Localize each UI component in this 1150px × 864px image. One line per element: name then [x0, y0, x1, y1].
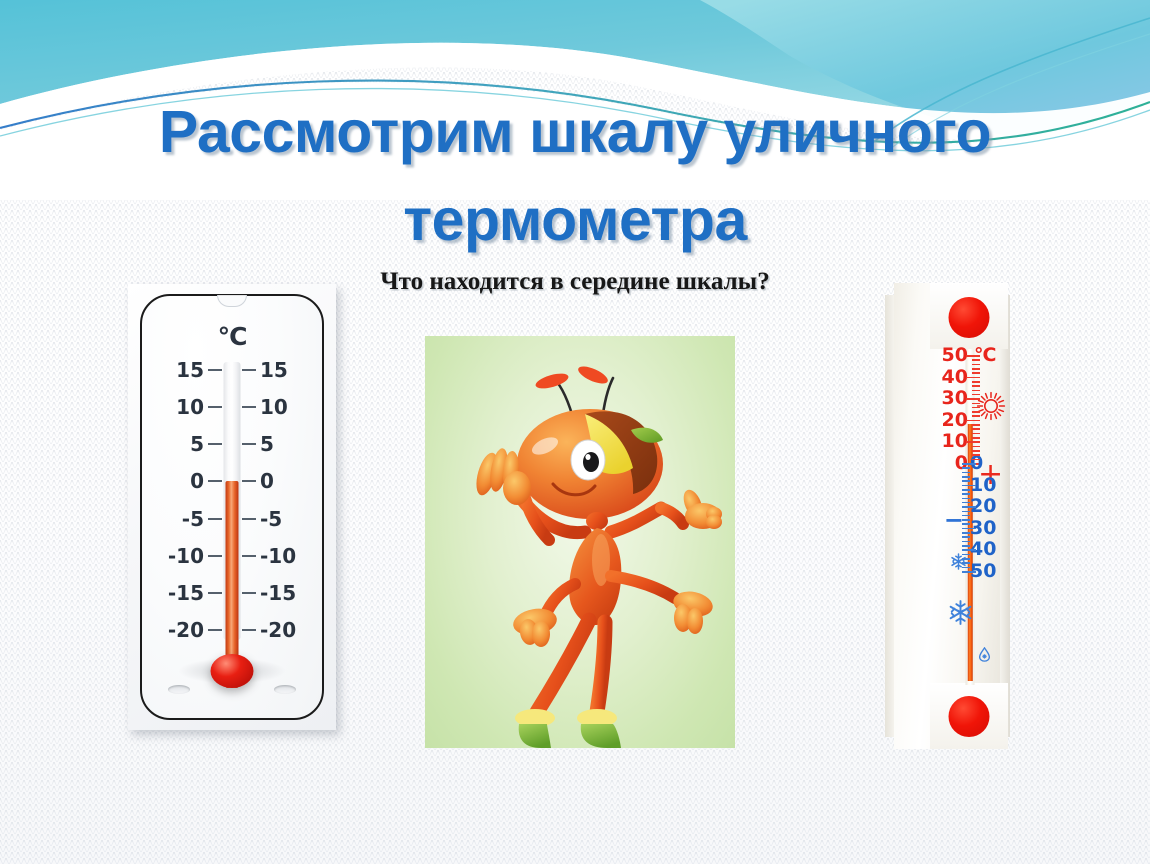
thermometer-left-plate: °C 151510105500-5-5-10-10-15-15-20-20	[128, 284, 336, 730]
scale-tick-left--5	[208, 518, 222, 520]
scale-tick-positive-20	[966, 420, 980, 422]
scale-minor-negative-42	[962, 554, 970, 556]
scale-minor-positive-48	[972, 359, 980, 361]
scale-tick-left-0	[208, 480, 222, 482]
scale-minor-positive-28	[972, 403, 980, 405]
scale-label-positive-20: 20	[942, 411, 968, 430]
scale-minor-negative-2	[962, 467, 970, 469]
scale-label-right-15: 15	[260, 358, 288, 382]
scale-minor-negative-28	[962, 523, 970, 525]
mount-hole-right	[274, 685, 296, 694]
scale-minor-positive-4	[972, 454, 980, 456]
scale-label-left--20: -20	[168, 618, 204, 642]
thermometer-right-face: °C	[924, 347, 1016, 687]
mount-hole-left	[168, 685, 190, 694]
scale-tick-left-5	[208, 443, 222, 445]
unit-label-celsius: °C	[142, 322, 322, 351]
scale-label-left--10: -10	[168, 544, 204, 568]
thermometer-left-body: °C 151510105500-5-5-10-10-15-15-20-20	[140, 294, 324, 720]
scale-minor-positive-42	[972, 372, 980, 374]
scale-minor-positive-46	[972, 364, 980, 366]
scale-minor-positive-32	[972, 394, 980, 396]
scale-tick-right--15	[242, 592, 256, 594]
scale-tick-left--10	[208, 555, 222, 557]
scale-minor-negative-22	[962, 511, 970, 513]
scale-label-left-0: 0	[190, 469, 204, 493]
scale-minor-negative-26	[962, 519, 970, 521]
scale-tick-positive-10	[966, 441, 980, 443]
suction-cup-top-icon	[949, 297, 990, 338]
hanger-notch	[217, 295, 247, 307]
scale-label-right--5: -5	[260, 507, 282, 531]
scale-minor-negative-32	[962, 532, 970, 534]
scale-tick-left-15	[208, 369, 222, 371]
scale-minor-negative-36	[962, 541, 970, 543]
scale-tick-right--10	[242, 555, 256, 557]
scale-minor-positive-12	[972, 437, 980, 439]
scale-minor-positive-44	[972, 368, 980, 370]
header-decoration	[0, 0, 1150, 200]
scale-label-positive-30: 30	[942, 389, 968, 408]
ant-character-image	[425, 336, 735, 748]
scale-tick-right-10	[242, 406, 256, 408]
scale-tick-positive-30	[966, 398, 980, 400]
scale-minor-positive-14	[972, 433, 980, 435]
scale-minor-negative-16	[962, 498, 970, 500]
scale-minor-positive-34	[972, 390, 980, 392]
scale-tick-positive-50	[966, 355, 980, 357]
sun-icon	[976, 391, 1006, 424]
scale-label-positive-40: 40	[942, 368, 968, 387]
scale-tick-right-15	[242, 369, 256, 371]
scale-minor-negative-12	[962, 489, 970, 491]
scale-minor-negative-44	[962, 558, 970, 560]
scale-minor-negative-18	[962, 502, 970, 504]
scale-minor-negative-46	[962, 562, 970, 564]
scale-minor-negative-14	[962, 493, 970, 495]
scale-label-left--5: -5	[182, 507, 204, 531]
scale-label-left-15: 15	[176, 358, 204, 382]
scale-minor-negative-38	[962, 545, 970, 547]
scale-label-positive-10: 10	[942, 432, 968, 451]
scale-label-right--20: -20	[260, 618, 296, 642]
scale-label-left--15: -15	[168, 581, 204, 605]
scale-minor-positive-24	[972, 411, 980, 413]
scale-minor-negative-48	[962, 567, 970, 569]
scale-label-left-10: 10	[176, 395, 204, 419]
scale-minor-negative-8	[962, 480, 970, 482]
thermometer-left: °C 151510105500-5-5-10-10-15-15-20-20	[128, 284, 336, 730]
scale-minor-positive-16	[972, 428, 980, 430]
scale-tick-negative-50	[962, 571, 976, 573]
scale-minor-positive-2	[972, 459, 980, 461]
top-cap	[930, 283, 1008, 349]
scale-tick-negative-10	[962, 485, 976, 487]
scale-tick-negative-0	[962, 463, 976, 465]
scale-label-right-0: 0	[260, 469, 274, 493]
scale-tick-left--20	[208, 629, 222, 631]
scale-label-right-10: 10	[260, 395, 288, 419]
scale-minor-positive-22	[972, 415, 980, 417]
scale-tick-right-5	[242, 443, 256, 445]
snowflake-large-icon	[947, 599, 974, 629]
droplet-icon	[978, 647, 991, 665]
scale-minor-positive-8	[972, 446, 980, 448]
scale-tick-left-10	[208, 406, 222, 408]
scale-tick-right--20	[242, 629, 256, 631]
suction-cup-bottom-icon	[949, 696, 990, 737]
scale-tick-positive-40	[966, 377, 980, 379]
mercury-bulb	[211, 654, 254, 688]
scale-minor-positive-36	[972, 385, 980, 387]
minus-sign: −	[944, 508, 964, 532]
scale-minor-positive-38	[972, 381, 980, 383]
slide-canvas: Рассмотрим шкалу уличного термометра Что…	[0, 0, 1150, 864]
scale-minor-negative-4	[962, 472, 970, 474]
scale-tick-right-0	[242, 480, 256, 482]
thermometer-right: °C	[872, 283, 1032, 749]
scale-label-right--15: -15	[260, 581, 296, 605]
scale-minor-positive-26	[972, 407, 980, 409]
scale-minor-positive-6	[972, 450, 980, 452]
scale-label-left-5: 5	[190, 432, 204, 456]
scale-minor-negative-24	[962, 515, 970, 517]
scale-tick-left--15	[208, 592, 222, 594]
scale-label-right-5: 5	[260, 432, 274, 456]
scale-label-right--10: -10	[260, 544, 296, 568]
scale-minor-negative-6	[962, 476, 970, 478]
scale-minor-negative-34	[962, 536, 970, 538]
bottom-cap	[930, 683, 1008, 749]
scale-label-positive-50: 50	[942, 346, 968, 365]
scale-tick-negative-20	[962, 506, 976, 508]
thermometer-right-backplate: °C	[894, 283, 1000, 749]
scale-minor-positive-18	[972, 424, 980, 426]
scale-tick-negative-30	[962, 528, 976, 530]
scale-tick-negative-40	[962, 549, 976, 551]
scale-tick-right--5	[242, 518, 256, 520]
